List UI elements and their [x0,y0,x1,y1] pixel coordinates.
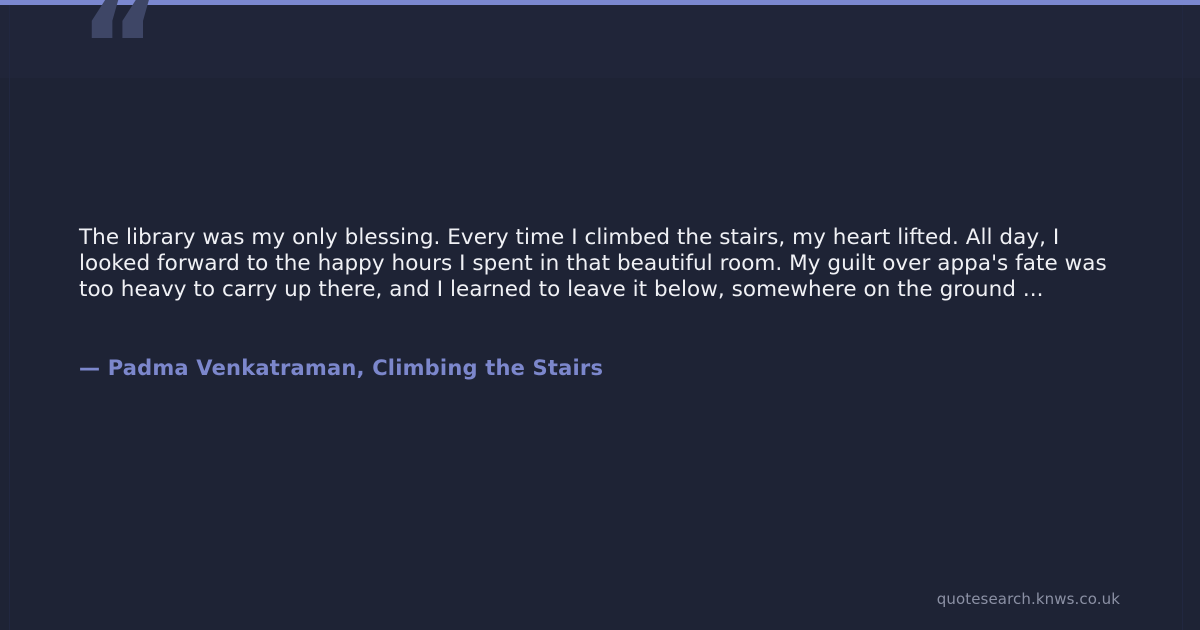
source-url: quotesearch.knws.co.uk [937,589,1120,609]
open-quote-icon: “ [79,0,159,110]
quote-card: “ The library was my only blessing. Ever… [0,0,1200,630]
panel-edge-right [1182,5,1183,630]
quote-attribution: — Padma Venkatraman, Climbing the Stairs [79,355,603,381]
panel-edge-left [9,5,10,630]
top-accent-bar [0,0,1200,5]
quote-text: The library was my only blessing. Every … [79,225,1123,303]
panel-band-upper [0,5,1200,78]
